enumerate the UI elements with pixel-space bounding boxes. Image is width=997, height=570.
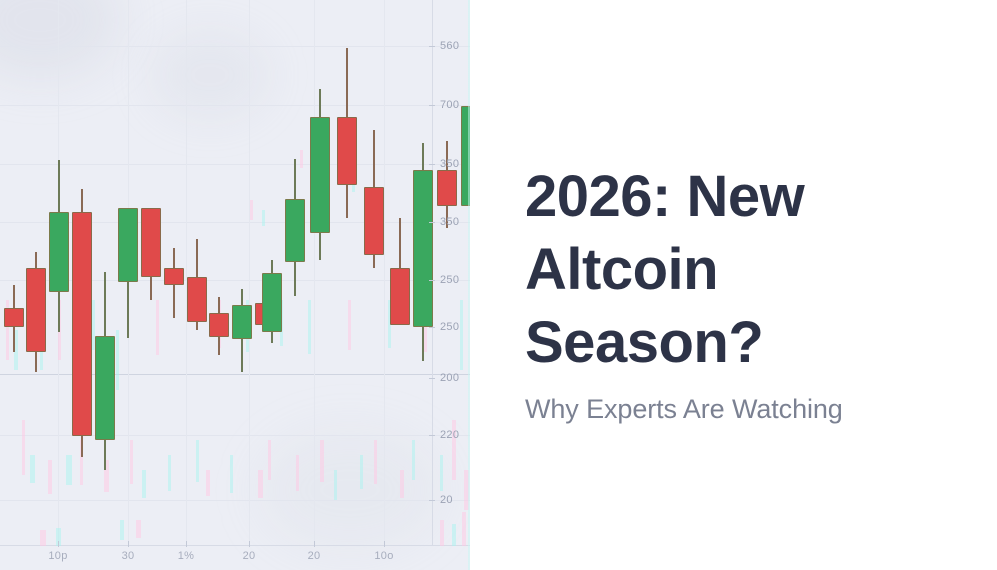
chromatic-streak bbox=[440, 520, 444, 546]
candlestick bbox=[118, 208, 138, 338]
candle-body bbox=[310, 117, 330, 233]
candle-body bbox=[4, 308, 24, 327]
chromatic-streak bbox=[460, 300, 463, 370]
gridline-horizontal bbox=[0, 164, 470, 165]
candle-body bbox=[262, 273, 282, 332]
chromatic-streak bbox=[206, 470, 210, 496]
chromatic-streak bbox=[462, 512, 466, 546]
x-tick-label: 30 bbox=[122, 550, 135, 562]
chromatic-streak bbox=[120, 520, 124, 540]
candlestick bbox=[285, 159, 305, 296]
chromatic-streak bbox=[116, 330, 119, 390]
candlestick-chart-panel: 56070035035025025020022020 10p301%202010… bbox=[0, 0, 470, 570]
chromatic-streak bbox=[66, 455, 72, 485]
chromatic-streak bbox=[48, 460, 52, 494]
chromatic-streak bbox=[136, 520, 141, 538]
candlestick bbox=[95, 272, 115, 470]
gridline-baseline bbox=[0, 374, 470, 375]
chromatic-streak bbox=[412, 440, 415, 480]
gridline-horizontal bbox=[0, 435, 470, 436]
candle-body bbox=[118, 208, 138, 282]
candlestick bbox=[4, 285, 24, 352]
y-tick-label: 700 bbox=[440, 99, 459, 111]
x-tick-mark bbox=[384, 541, 385, 547]
candlestick bbox=[390, 218, 410, 323]
chromatic-streak bbox=[30, 455, 35, 483]
y-tick-mark bbox=[429, 46, 435, 47]
chromatic-streak bbox=[22, 420, 25, 475]
x-tick-mark bbox=[128, 541, 129, 547]
chromatic-streak bbox=[360, 455, 363, 489]
chromatic-streak bbox=[268, 440, 271, 480]
x-axis-line bbox=[0, 545, 470, 546]
chromatic-streak bbox=[320, 440, 324, 482]
text-panel: 2026: New Altcoin Season? Why Experts Ar… bbox=[470, 0, 997, 570]
gridline-vertical bbox=[384, 0, 385, 545]
y-tick-mark bbox=[429, 327, 435, 328]
chromatic-streak bbox=[142, 470, 146, 498]
candle-body bbox=[232, 305, 252, 339]
gridline-vertical bbox=[314, 0, 315, 545]
chromatic-streak bbox=[464, 470, 469, 510]
candle-body bbox=[141, 208, 161, 277]
chromatic-streak bbox=[334, 470, 337, 500]
gridline-vertical bbox=[249, 0, 250, 545]
candle-body bbox=[461, 106, 470, 206]
poster-canvas: 56070035035025025020022020 10p301%202010… bbox=[0, 0, 997, 570]
chromatic-streak bbox=[296, 455, 299, 491]
candlestick bbox=[164, 248, 184, 318]
chromatic-streak bbox=[374, 440, 377, 484]
chromatic-streak bbox=[440, 455, 443, 491]
candlestick bbox=[310, 89, 330, 260]
gridline-horizontal bbox=[0, 105, 470, 106]
x-tick-mark bbox=[58, 541, 59, 547]
chromatic-streak bbox=[40, 530, 46, 546]
chromatic-streak bbox=[452, 524, 456, 546]
chromatic-streak bbox=[230, 455, 233, 493]
chromatic-streak bbox=[348, 300, 351, 350]
chromatic-streak bbox=[130, 440, 133, 484]
candle-body bbox=[164, 268, 184, 285]
candle-body bbox=[26, 268, 46, 352]
candlestick bbox=[209, 297, 229, 355]
candlestick bbox=[364, 130, 384, 268]
candlestick bbox=[437, 141, 457, 228]
chromatic-streak bbox=[156, 300, 159, 355]
chromatic-streak bbox=[400, 470, 404, 498]
page-title: 2026: New Altcoin Season? bbox=[525, 160, 955, 379]
candlestick bbox=[337, 48, 357, 218]
candle-body bbox=[390, 268, 410, 325]
candle-body bbox=[95, 336, 115, 440]
candle-body bbox=[209, 313, 229, 337]
candlestick bbox=[49, 160, 69, 332]
y-tick-label: 20 bbox=[440, 494, 453, 506]
background-blotch bbox=[260, 430, 440, 550]
chromatic-streak bbox=[168, 455, 171, 491]
y-tick-label: 560 bbox=[440, 40, 459, 52]
candle-body bbox=[72, 212, 92, 436]
chromatic-streak bbox=[262, 210, 265, 226]
x-tick-label: 10p bbox=[48, 550, 67, 562]
y-tick-mark bbox=[429, 105, 435, 106]
chromatic-streak bbox=[250, 200, 253, 220]
candlestick bbox=[413, 143, 433, 361]
y-tick-label: 250 bbox=[440, 274, 459, 286]
x-tick-label: 20 bbox=[243, 550, 256, 562]
y-tick-mark bbox=[429, 435, 435, 436]
y-tick-label: 350 bbox=[440, 158, 459, 170]
y-tick-mark bbox=[429, 378, 435, 379]
gridline-horizontal bbox=[0, 46, 470, 47]
background-blotch bbox=[150, 30, 270, 120]
x-tick-mark bbox=[249, 541, 250, 547]
x-tick-label: 10o bbox=[374, 550, 393, 562]
y-tick-label: 250 bbox=[440, 321, 459, 333]
chromatic-streak bbox=[258, 470, 263, 498]
y-tick-label: 350 bbox=[440, 216, 459, 228]
page-subtitle: Why Experts Are Watching bbox=[525, 392, 975, 426]
candlestick bbox=[26, 252, 46, 372]
y-tick-label: 200 bbox=[440, 372, 459, 384]
y-tick-label: 220 bbox=[440, 429, 459, 441]
candle-body bbox=[437, 170, 457, 206]
background-blotch bbox=[0, 0, 120, 80]
x-tick-mark bbox=[314, 541, 315, 547]
candlestick bbox=[262, 260, 282, 343]
candlestick bbox=[72, 189, 92, 457]
gridline-horizontal bbox=[0, 500, 470, 501]
candlestick bbox=[461, 106, 470, 204]
x-tick-label: 20 bbox=[308, 550, 321, 562]
x-tick-label: 1% bbox=[178, 550, 195, 562]
chromatic-streak bbox=[196, 440, 199, 482]
candle-body bbox=[187, 277, 207, 322]
candle-body bbox=[413, 170, 433, 327]
candlestick bbox=[187, 239, 207, 330]
x-tick-mark bbox=[186, 541, 187, 547]
y-tick-mark bbox=[429, 222, 435, 223]
candlestick bbox=[141, 208, 161, 300]
candle-body bbox=[364, 187, 384, 255]
y-tick-mark bbox=[429, 164, 435, 165]
chromatic-streak bbox=[308, 300, 311, 354]
candle-body bbox=[285, 199, 305, 262]
y-tick-mark bbox=[429, 500, 435, 501]
candle-body bbox=[337, 117, 357, 185]
y-tick-mark bbox=[429, 280, 435, 281]
candlestick bbox=[232, 289, 252, 372]
candle-body bbox=[49, 212, 69, 292]
